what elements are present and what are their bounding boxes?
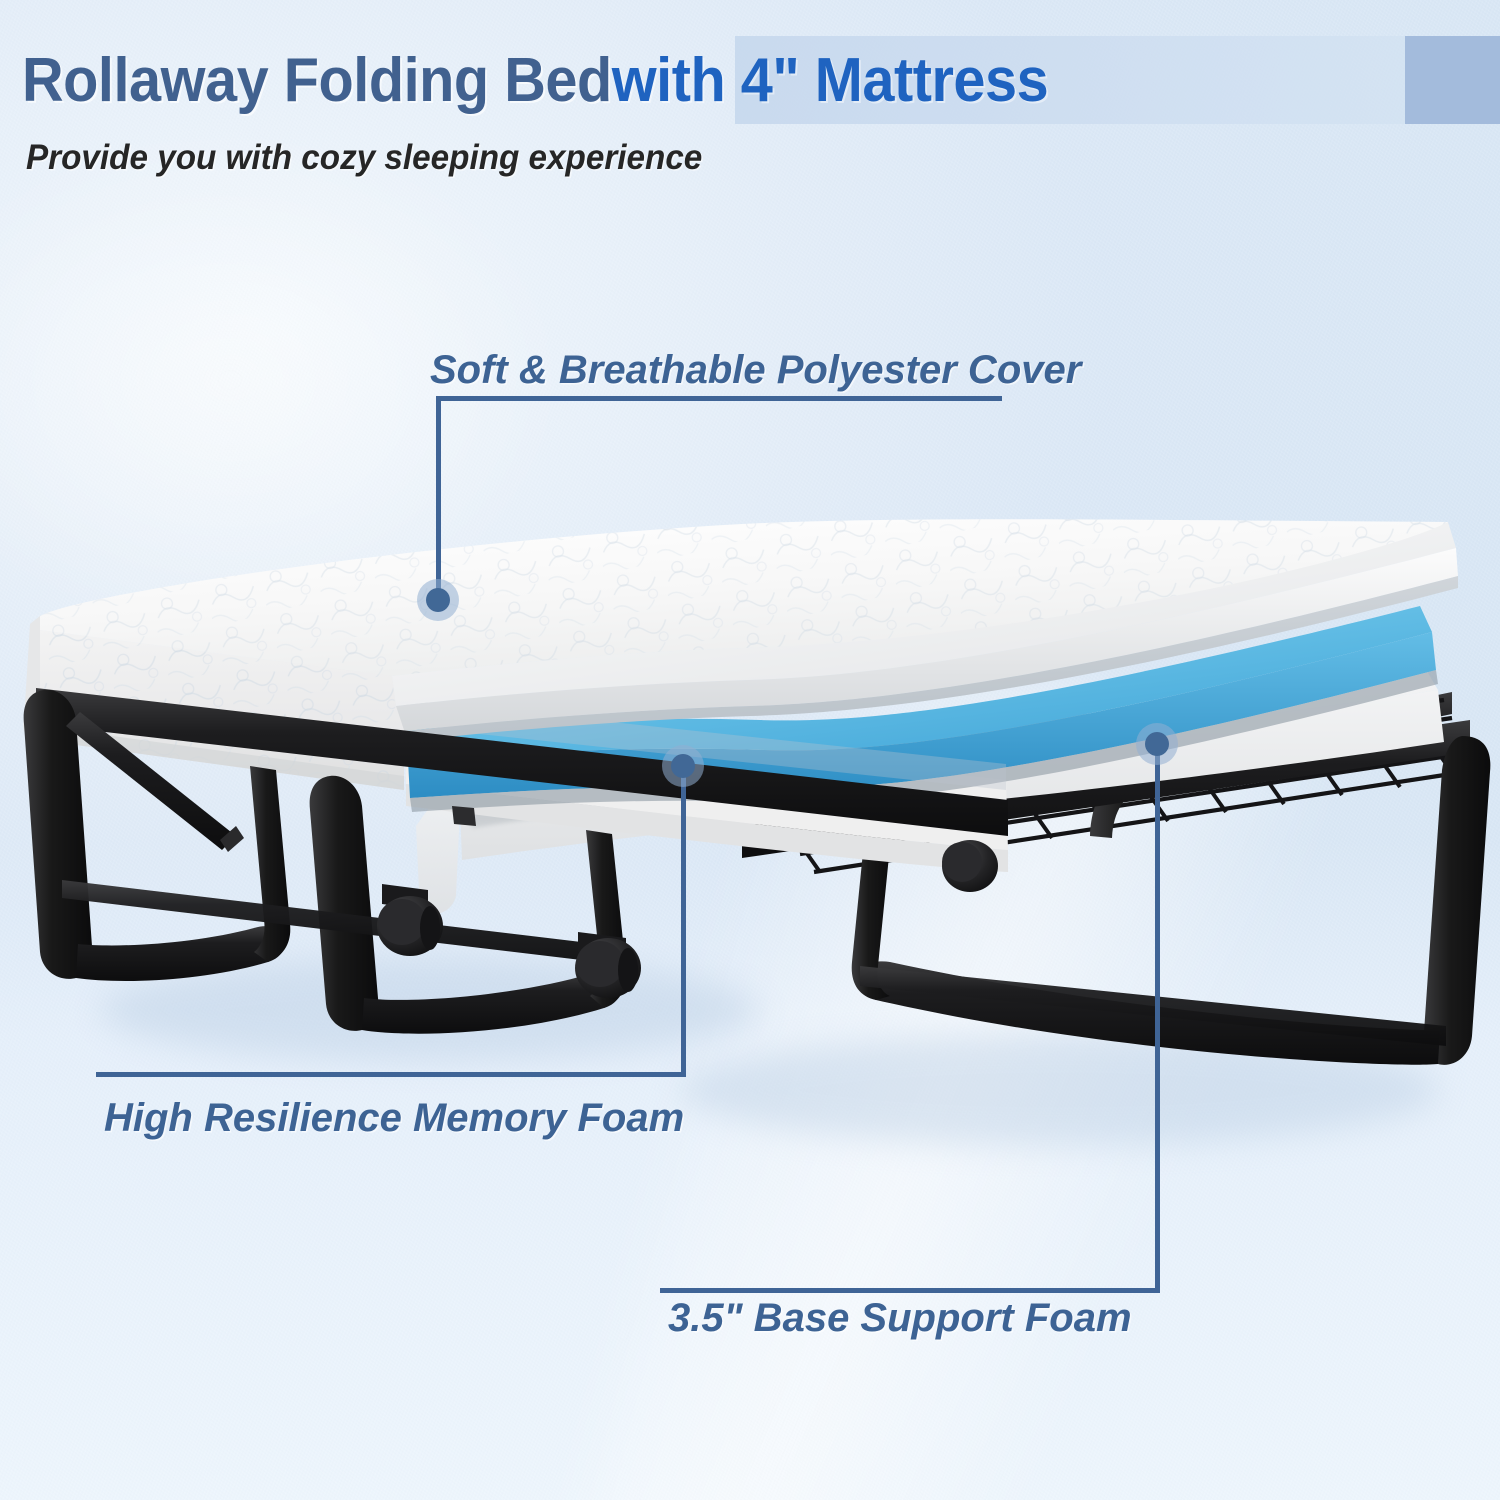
caster-hub-left xyxy=(378,899,426,945)
leader-line-base-horizontal xyxy=(660,1288,1160,1293)
leader-line-memory-vertical xyxy=(681,768,686,1076)
callout-dot-base xyxy=(1145,732,1169,756)
caster-tread-mid xyxy=(618,948,638,992)
callout-label-base: 3.5" Base Support Foam xyxy=(668,1296,1132,1341)
caster-hub-mid xyxy=(576,941,624,987)
leader-line-base-vertical xyxy=(1155,744,1160,1292)
callout-dot-cover xyxy=(426,588,450,612)
caster-tread-left xyxy=(420,906,440,950)
leader-line-cover-horizontal xyxy=(436,396,1002,401)
leader-line-cover-vertical xyxy=(436,396,441,596)
infographic-canvas: Rollaway Folding Bed with 4" Mattress Pr… xyxy=(0,0,1500,1500)
caster-wheel-mid xyxy=(575,932,641,998)
caster-wheel-right xyxy=(942,840,998,892)
callout-dot-memory xyxy=(671,754,695,778)
folding-leg-right-outer xyxy=(1424,736,1491,1065)
frame-bracket-mid xyxy=(452,806,476,826)
product-illustration xyxy=(0,0,1500,1500)
callout-label-memory: High Resilience Memory Foam xyxy=(104,1096,684,1141)
caster-hub-right xyxy=(942,842,982,882)
callout-label-cover: Soft & Breathable Polyester Cover xyxy=(430,348,1081,393)
leader-line-memory-horizontal xyxy=(96,1072,686,1077)
